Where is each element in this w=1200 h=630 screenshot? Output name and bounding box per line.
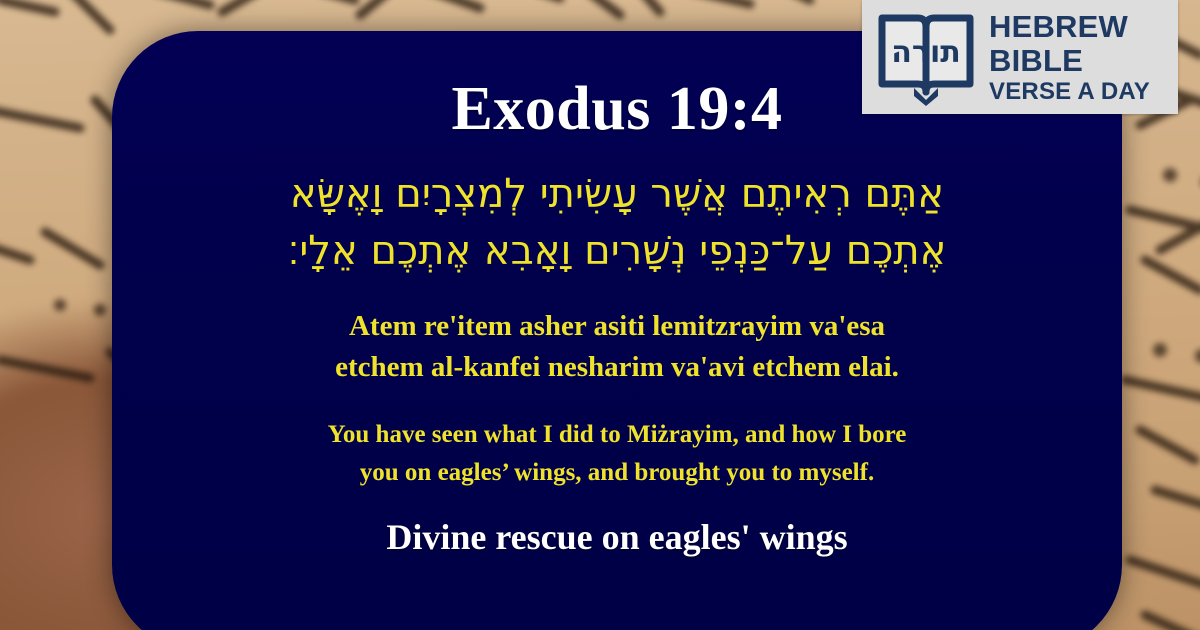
translation-line-2: you on eagles’ wings, and brought you to… [328, 454, 907, 492]
hebrew-line-1: אַתֶּם רְאִיתֶם אֲשֶׁר עָשִׂיתִי לְמִצְר… [137, 166, 1097, 223]
verse-card: Exodus 19:4 אַתֶּם רְאִיתֶם אֲשֶׁר עָשִׂ… [112, 31, 1122, 630]
open-book-icon: תורה [874, 8, 978, 106]
torah-hebrew-word: תורה [891, 35, 960, 70]
hebrew-line-2: אֶתְכֶם עַל־כַּנְפֵי נְשָׁרִים וָאָבִא א… [137, 223, 1097, 280]
transliteration-text: Atem re'item asher asiti lemitzrayim va'… [335, 306, 899, 388]
transliteration-line-2: etchem al-kanfei nesharim va'avi etchem … [335, 347, 899, 388]
english-translation-text: You have seen what I did to Miżrayim, an… [328, 416, 907, 492]
verse-reference-title: Exodus 19:4 [451, 78, 782, 140]
translation-line-1: You have seen what I did to Miżrayim, an… [328, 416, 907, 454]
brand-logo-badge[interactable]: תורה HEBREW BIBLE VERSE A DAY [862, 0, 1178, 114]
brand-line-3: VERSE A DAY [989, 80, 1150, 104]
verse-theme-caption: Divine rescue on eagles' wings [386, 518, 847, 558]
brand-line-1: HEBREW [989, 11, 1150, 42]
hebrew-verse-text: אַתֶּם רְאִיתֶם אֲשֶׁר עָשִׂיתִי לְמִצְר… [137, 166, 1097, 280]
verse-image-canvas: Exodus 19:4 אַתֶּם רְאִיתֶם אֲשֶׁר עָשִׂ… [0, 0, 1200, 630]
transliteration-line-1: Atem re'item asher asiti lemitzrayim va'… [335, 306, 899, 347]
brand-line-2: BIBLE [989, 45, 1150, 76]
brand-name-text: HEBREW BIBLE VERSE A DAY [989, 11, 1150, 104]
